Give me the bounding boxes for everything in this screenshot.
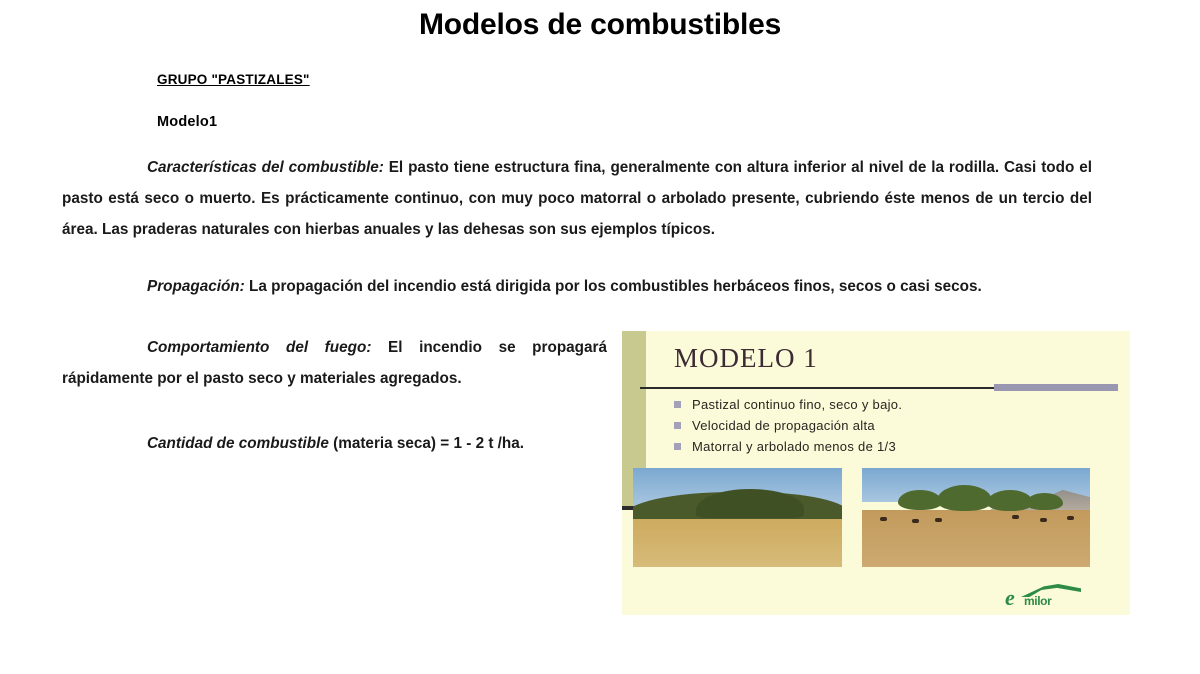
- square-bullet-icon: [674, 443, 681, 450]
- logo-mark: e: [1005, 588, 1015, 608]
- photo-cattle: [1012, 515, 1019, 519]
- photo-dry-grass-field: [862, 510, 1090, 567]
- logo-wordmark: milor: [1024, 594, 1051, 608]
- paragraph-lead: Comportamiento del fuego:: [147, 339, 371, 356]
- slide-title: MODELO 1: [674, 343, 818, 374]
- slide-divider-accent: [994, 384, 1118, 391]
- paragraph-caracteristicas: Características del combustible: El past…: [62, 152, 1092, 245]
- paragraph-lead: Propagación:: [147, 278, 245, 295]
- page-title: Modelos de combustibles: [0, 8, 1200, 42]
- photo-cattle: [1067, 516, 1074, 520]
- slide-bullet-label: Velocidad de propagación alta: [692, 418, 875, 433]
- paragraph-cantidad: Cantidad de combustible (materia seca) =…: [62, 428, 607, 459]
- paragraph-text: (materia seca) = 1 - 2 t /ha.: [329, 435, 524, 452]
- paragraph-text: La propagación del incendio está dirigid…: [245, 278, 982, 295]
- paragraph-comportamiento: Comportamiento del fuego: El incendio se…: [62, 332, 607, 394]
- slide-bullet-label: Pastizal continuo fino, seco y bajo.: [692, 397, 902, 412]
- embedded-slide-image: MODELO 1 Pastizal continuo fino, seco y …: [622, 331, 1130, 615]
- square-bullet-icon: [674, 401, 681, 408]
- slide-bullet-label: Matorral y arbolado menos de 1/3: [692, 439, 896, 454]
- slide-bullet-item: Pastizal continuo fino, seco y bajo.: [674, 395, 1094, 414]
- paragraph-lead: Características del combustible:: [147, 159, 384, 176]
- photo-oak-tree: [898, 490, 941, 510]
- photo-cattle: [1040, 518, 1047, 522]
- paragraph-lead: Cantidad de combustible: [147, 435, 329, 452]
- square-bullet-icon: [674, 422, 681, 429]
- group-heading: GRUPO "PASTIZALES": [157, 72, 1092, 87]
- photo-oak-tree: [1026, 493, 1062, 510]
- slide-bullet-item: Velocidad de propagación alta: [674, 416, 1094, 435]
- photo-oak-tree: [937, 485, 992, 511]
- model-heading: Modelo1: [157, 114, 1092, 130]
- slide-bullet-list: Pastizal continuo fino, seco y bajo. Vel…: [674, 395, 1094, 458]
- slide-bullet-item: Matorral y arbolado menos de 1/3: [674, 437, 1094, 456]
- photo-pastizal-continuo: Fuente: MARM: [633, 468, 842, 567]
- photo-dry-grass-field: [633, 519, 842, 567]
- paragraph-propagacion: Propagación: La propagación del incendio…: [62, 271, 1092, 302]
- photo-cattle: [880, 517, 887, 521]
- photo-dehesa-con-ganado: Fuente: MARM: [862, 468, 1090, 567]
- emilor-logo: e milor: [1005, 584, 1091, 610]
